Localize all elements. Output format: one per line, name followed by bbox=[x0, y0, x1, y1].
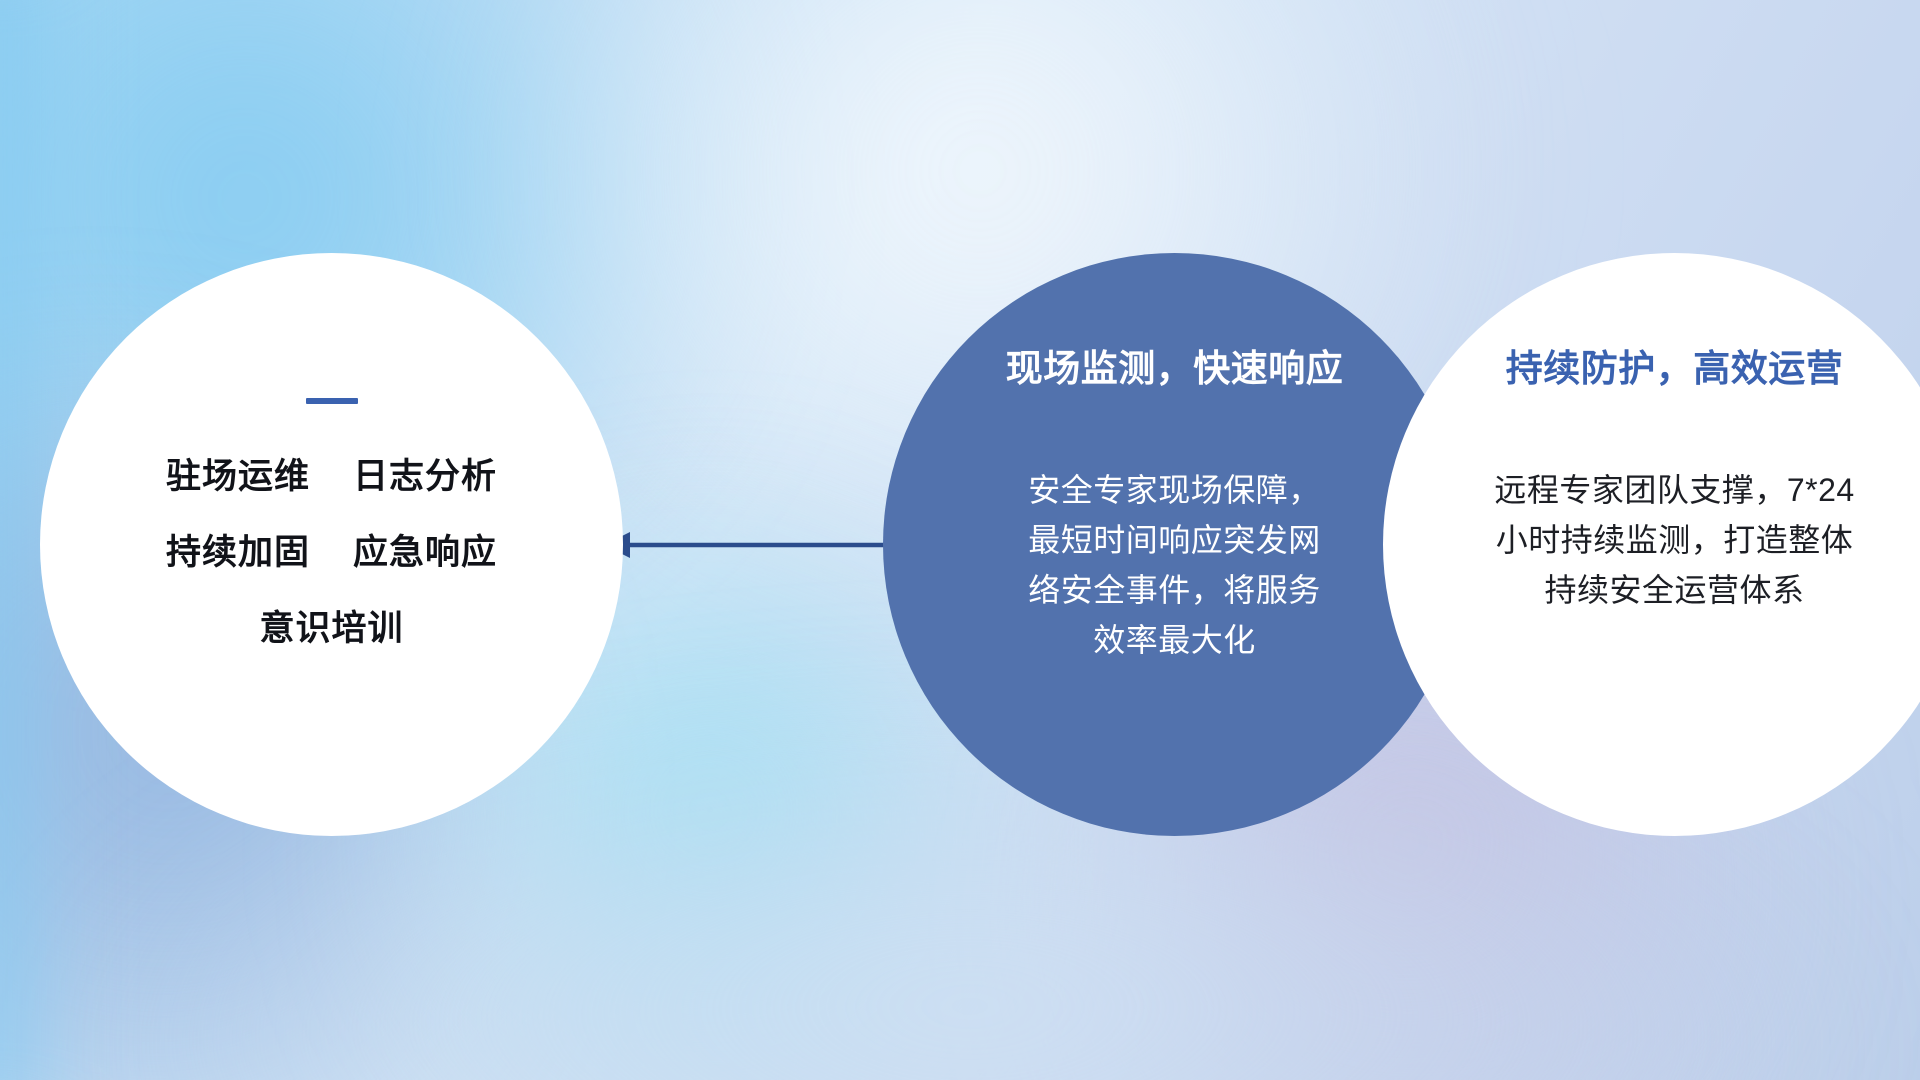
center-body-line-2: 最短时间响应突发网 bbox=[960, 516, 1390, 566]
capability-row-1: 驻场运维 日志分析 bbox=[40, 459, 623, 494]
capability-row-2: 持续加固 应急响应 bbox=[40, 535, 623, 570]
center-circle-content: 现场监测，快速响应 安全专家现场保障， 最短时间响应突发网 络安全事件，将服务 … bbox=[960, 338, 1390, 666]
center-body-line-1: 安全专家现场保障， bbox=[960, 466, 1390, 516]
center-circle-title: 现场监测，快速响应 bbox=[960, 338, 1390, 392]
right-circle-title: 持续防护，高效运营 bbox=[1450, 338, 1900, 392]
center-body-line-4: 效率最大化 bbox=[960, 616, 1390, 666]
center-body-line-3: 络安全事件，将服务 bbox=[960, 566, 1390, 616]
right-circle-content: 持续防护，高效运营 远程专家团队支撑，7*24 小时持续监测，打造整体 持续安全… bbox=[1450, 338, 1900, 616]
center-onsite-circle: 现场监测，快速响应 安全专家现场保障， 最短时间响应突发网 络安全事件，将服务 … bbox=[883, 253, 1466, 836]
divider-dash bbox=[306, 398, 358, 404]
center-circle-body: 安全专家现场保障， 最短时间响应突发网 络安全事件，将服务 效率最大化 bbox=[960, 466, 1390, 666]
flow-arrow-icon bbox=[600, 524, 890, 566]
right-circle-body: 远程专家团队支撑，7*24 小时持续监测，打造整体 持续安全运营体系 bbox=[1450, 466, 1900, 616]
right-body-line-2: 小时持续监测，打造整体 bbox=[1450, 516, 1900, 566]
right-body-line-3: 持续安全运营体系 bbox=[1450, 566, 1900, 616]
left-capability-circle: 驻场运维 日志分析 持续加固 应急响应 意识培训 bbox=[40, 253, 623, 836]
right-body-line-1: 远程专家团队支撑，7*24 bbox=[1450, 466, 1900, 516]
left-circle-content: 驻场运维 日志分析 持续加固 应急响应 意识培训 bbox=[40, 398, 623, 646]
capability-row-3: 意识培训 bbox=[40, 611, 623, 646]
